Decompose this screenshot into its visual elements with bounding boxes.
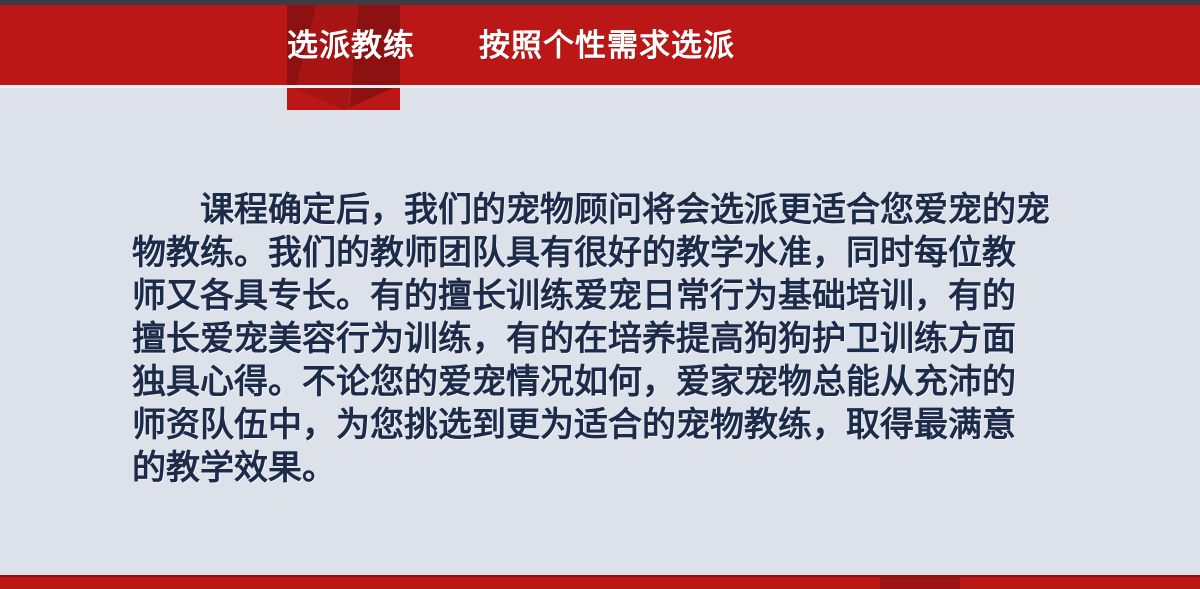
body-paragraph: 课程确定后，我们的宠物顾问将会选派更适合您爱宠的宠 物教练。我们的教师团队具有很… (132, 189, 1076, 490)
ribbon-decoration-icon (287, 3, 400, 110)
header-banner (0, 3, 1200, 87)
promo-banner-page: 选派教练 按照个性需求选派 课程确定后，我们的宠物顾问将会选派更适合您爱宠的宠 … (0, 0, 1200, 589)
content-area: 课程确定后，我们的宠物顾问将会选派更适合您爱宠的宠 物教练。我们的教师团队具有很… (0, 88, 1200, 577)
banner-bottom-divider (0, 85, 1200, 88)
paragraph-line: 课程确定后，我们的宠物顾问将会选派更适合您爱宠的宠 (132, 189, 1076, 232)
paragraph-line: 师资队伍中，为您挑选到更为适合的宠物教练，取得最满意 (132, 404, 1076, 447)
bottom-strip-highlight (880, 577, 960, 589)
bottom-accent-strip (0, 577, 1200, 589)
paragraph-line: 独具心得。不论您的爱宠情况如何，爱家宠物总能从充沛的 (132, 361, 1076, 404)
top-divider-rule (0, 0, 1200, 5)
paragraph-line: 物教练。我们的教师团队具有很好的教学水准，同时每位教 (132, 232, 1076, 275)
paragraph-line: 师又各具专长。有的擅长训练爱宠日常行为基础培训，有的 (132, 275, 1076, 318)
paragraph-line: 擅长爱宠美容行为训练，有的在培养提高狗狗护卫训练方面 (132, 318, 1076, 361)
paragraph-line: 的教学效果。 (132, 447, 1076, 490)
